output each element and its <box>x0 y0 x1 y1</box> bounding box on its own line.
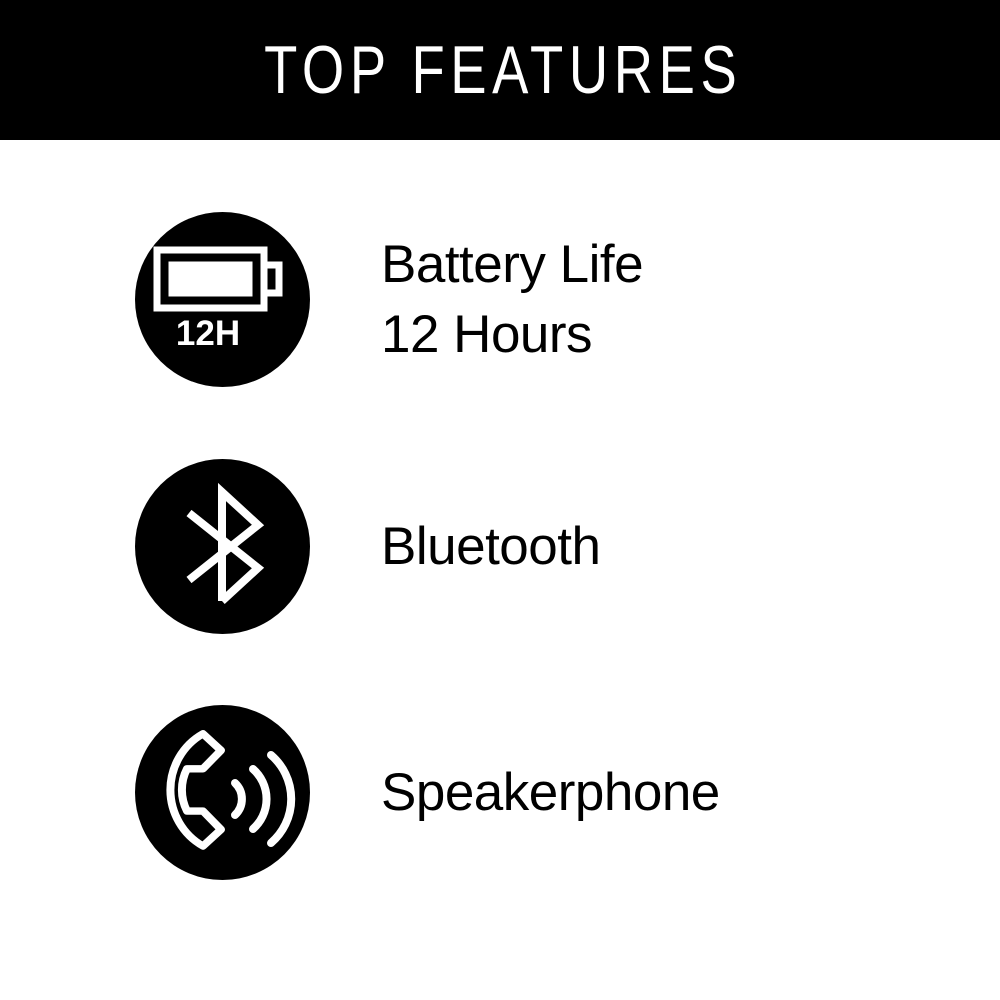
feature-label: Bluetooth <box>381 459 600 635</box>
feature-infographic: TOP FEATURES 12H Battery Life 12 Hours <box>0 0 1000 1000</box>
speakerphone-icon <box>135 705 310 880</box>
page-title: TOP FEATURES <box>258 36 742 104</box>
feature-label: Speakerphone <box>381 705 720 881</box>
battery-icon: 12H <box>135 212 310 387</box>
header-band: TOP FEATURES <box>0 0 1000 140</box>
svg-text:12H: 12H <box>176 314 240 353</box>
feature-label-line: Battery Life <box>381 230 643 300</box>
bluetooth-icon <box>135 459 310 634</box>
feature-row: 12H Battery Life 12 Hours <box>0 212 1000 388</box>
feature-label-line: Speakerphone <box>381 758 720 828</box>
feature-row: Speakerphone <box>0 705 1000 881</box>
feature-label-line: Bluetooth <box>381 512 600 582</box>
feature-row: Bluetooth <box>0 459 1000 635</box>
feature-label-line: 12 Hours <box>381 300 643 370</box>
feature-label: Battery Life 12 Hours <box>381 212 643 388</box>
